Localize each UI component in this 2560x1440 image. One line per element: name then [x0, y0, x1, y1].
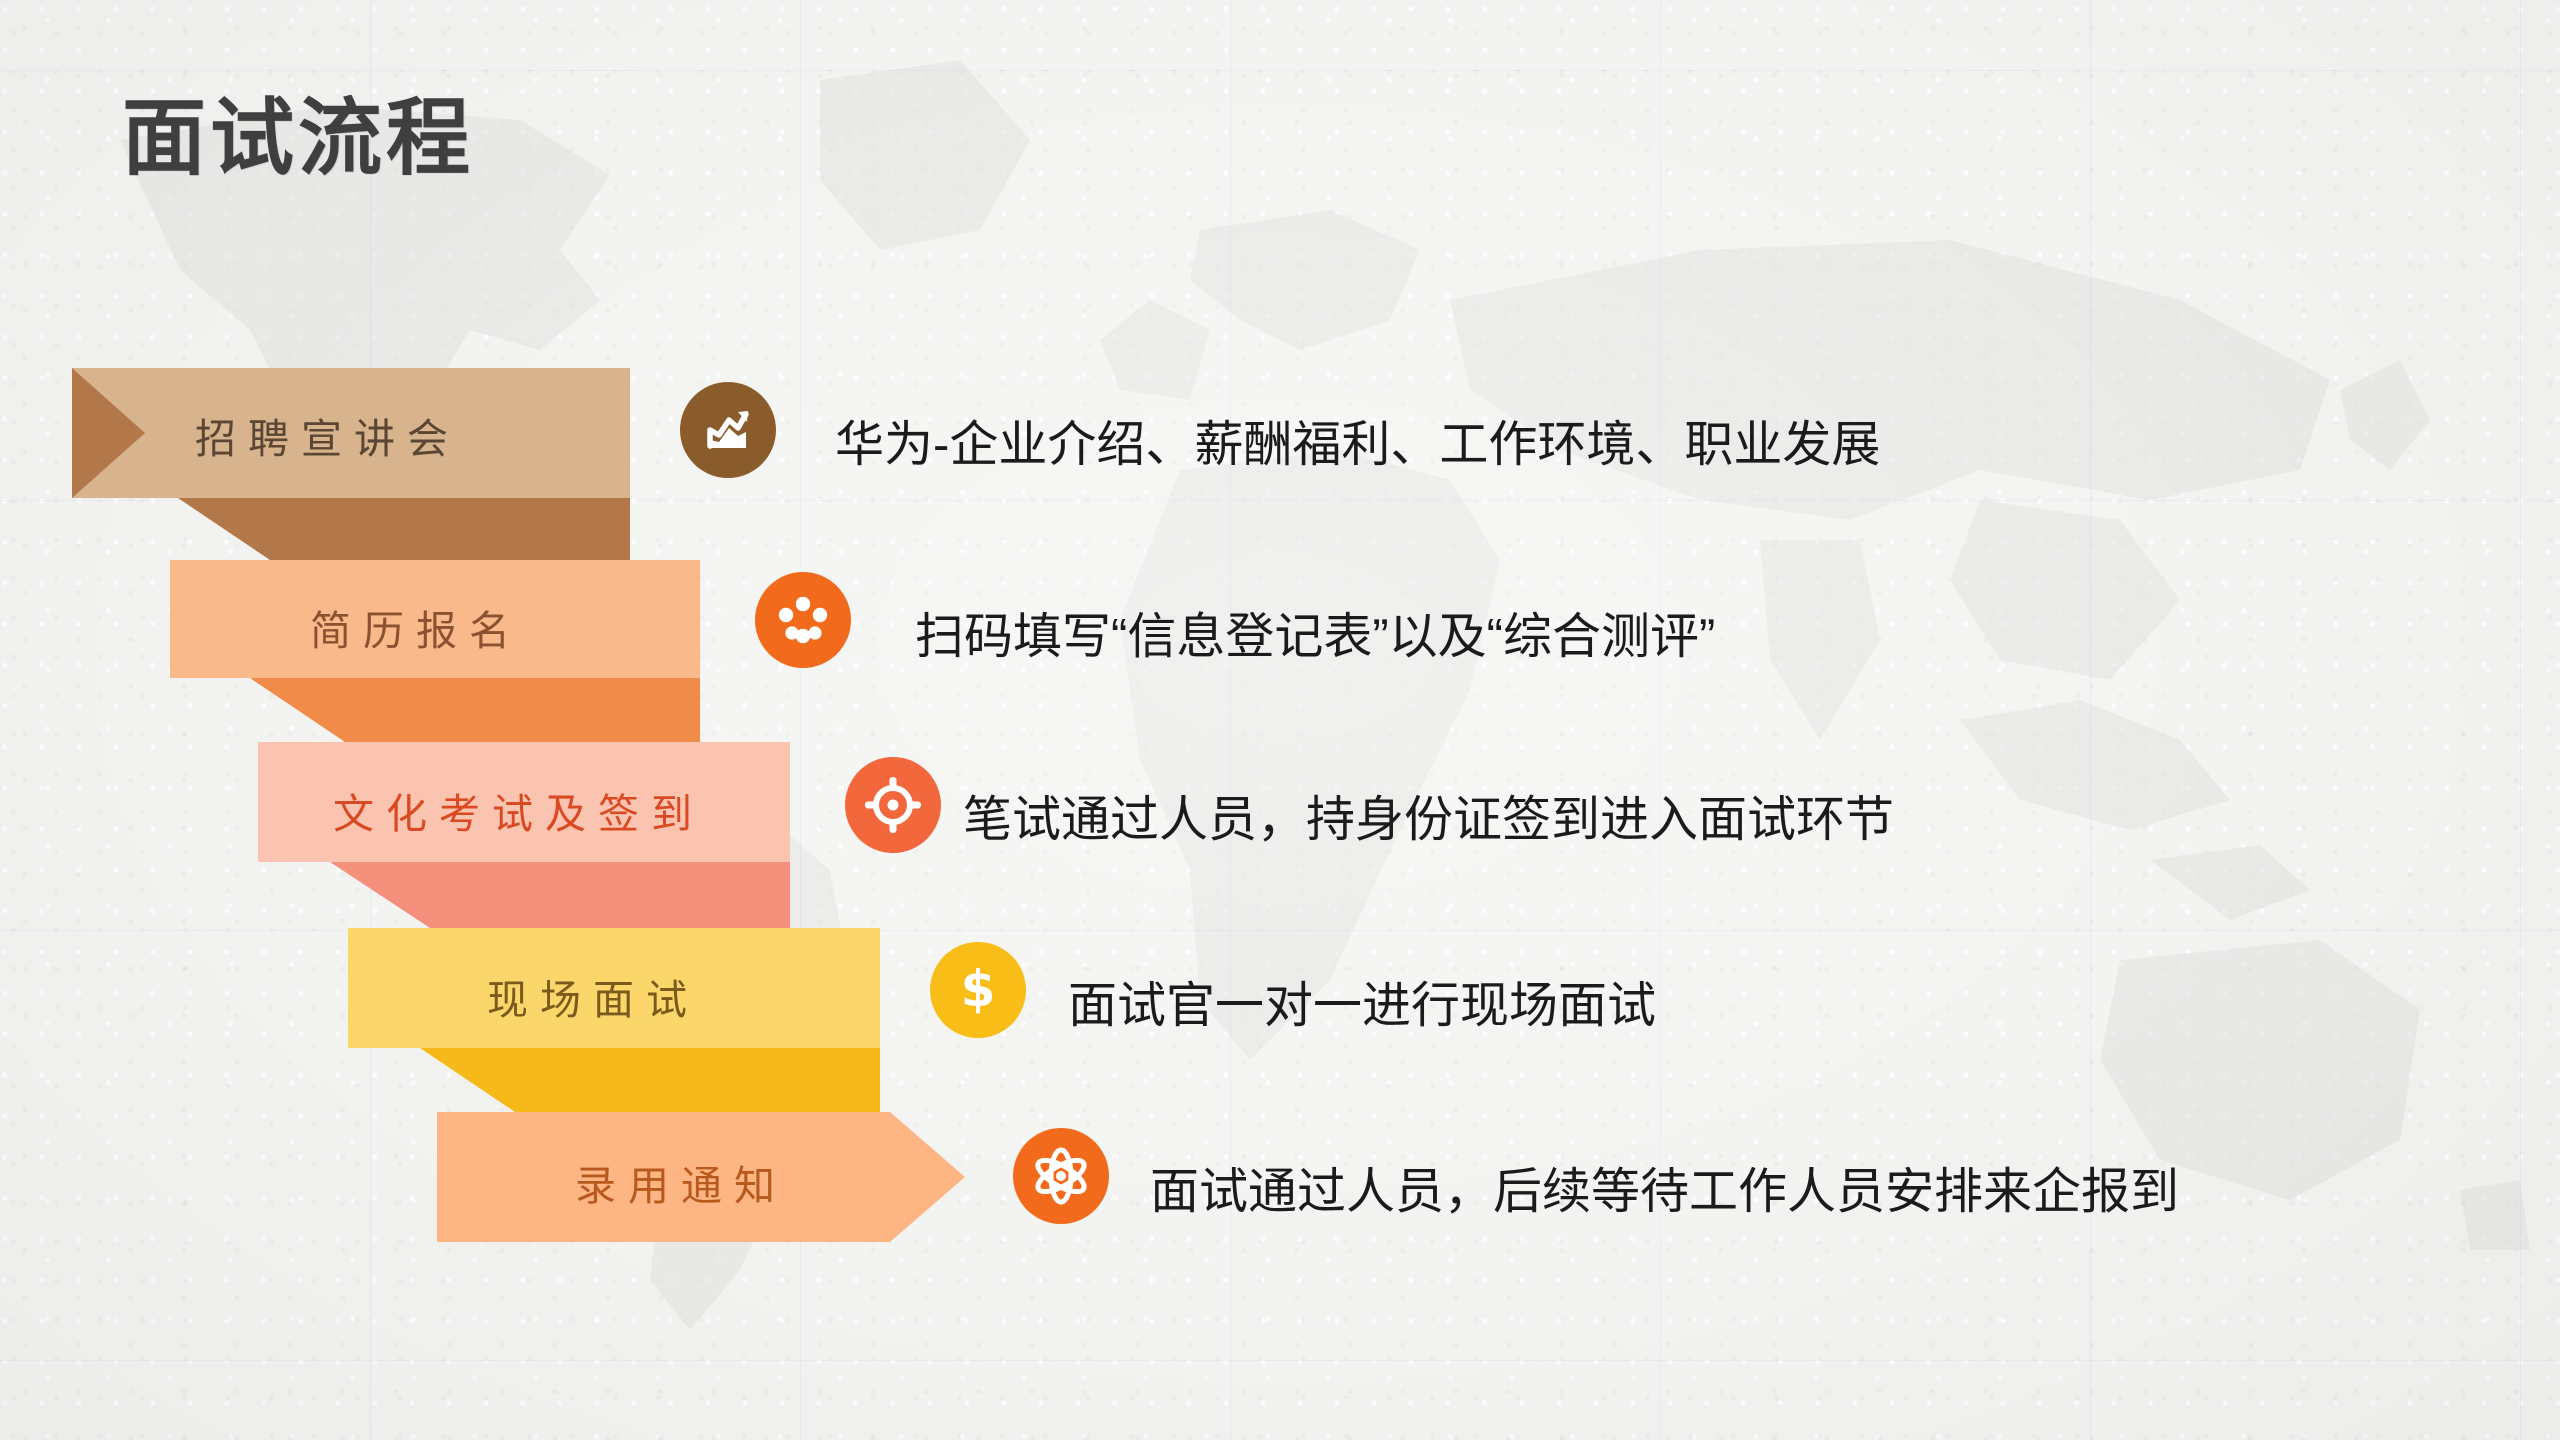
dollar-sign-icon: $	[930, 942, 1026, 1038]
atom-icon	[1013, 1128, 1109, 1224]
slide-canvas: 面试流程	[0, 0, 2560, 1440]
step-1-ribbon-label: 招聘宣讲会	[195, 405, 460, 465]
step-4-description: 面试官一对一进行现场面试	[1068, 966, 1656, 1037]
step-2-ribbon-label: 简历报名	[310, 597, 522, 657]
step-5-ribbon-label: 录用通知	[575, 1152, 787, 1212]
step-3-ribbon-label: 文化考试及签到	[333, 780, 704, 840]
svg-text:$: $	[961, 961, 996, 1018]
step-1-description: 华为-企业介绍、薪酬福利、工作环境、职业发展	[835, 405, 1880, 476]
ribbon-flow-graphic	[0, 0, 1220, 1440]
target-crosshair-icon	[845, 757, 941, 853]
step-4-ribbon-label: 现场面试	[487, 966, 699, 1026]
step-3-description: 笔试通过人员，持身份证签到进入面试环节	[963, 780, 1894, 851]
step-2-description: 扫码填写“信息登记表”以及“综合测评”	[915, 597, 1715, 668]
film-reel-icon	[755, 572, 851, 668]
step-5-description: 面试通过人员，后续等待工作人员安排来企报到	[1150, 1152, 2179, 1223]
growth-chart-icon	[680, 382, 776, 478]
